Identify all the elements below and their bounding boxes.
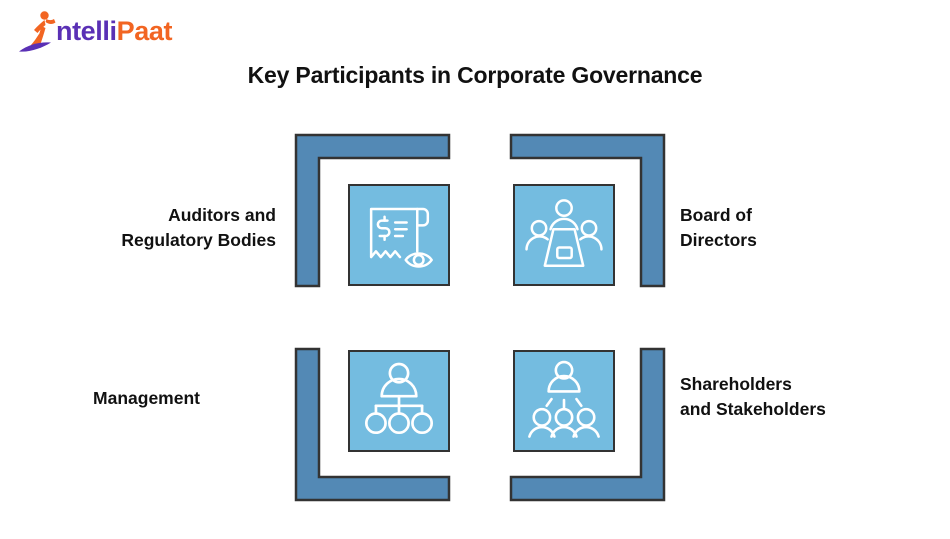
icon-tile-management[interactable] <box>348 350 450 452</box>
governance-diagram: Auditors and Regulatory Bodies Board of … <box>0 0 950 539</box>
label-board-of-directors: Board of Directors <box>680 203 930 253</box>
label-shareholders-and-stakeholders: Shareholders and Stakeholders <box>680 372 935 422</box>
icon-tile-board[interactable] <box>513 184 615 286</box>
label-auditors-and-regulatory-bodies: Auditors and Regulatory Bodies <box>20 203 276 253</box>
icon-tile-shareholders[interactable] <box>513 350 615 452</box>
boardroom-meeting-icon <box>515 186 613 284</box>
receipt-dollar-eye-icon <box>350 186 448 284</box>
org-chart-hierarchy-icon <box>350 352 448 450</box>
icon-tile-auditors[interactable] <box>348 184 450 286</box>
label-management: Management <box>20 386 200 411</box>
stakeholders-group-icon <box>515 352 613 450</box>
